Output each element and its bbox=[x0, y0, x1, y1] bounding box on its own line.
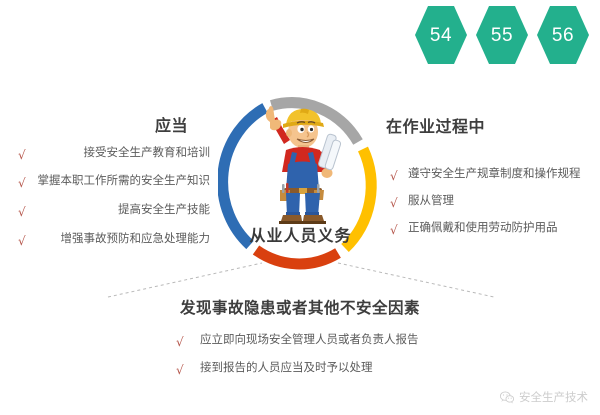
check-icon: √ bbox=[390, 197, 398, 209]
right-list-item: 服从管理 bbox=[408, 196, 454, 208]
ring-segment-red bbox=[256, 250, 338, 264]
check-icon: √ bbox=[18, 206, 26, 218]
center-label: 从业人员义务 bbox=[228, 222, 373, 246]
right-list-item: 正确佩戴和使用劳动防护用品 bbox=[408, 223, 558, 235]
section-heading-right: 在作业过程中 bbox=[386, 113, 485, 137]
check-icon: √ bbox=[18, 149, 26, 161]
section-heading-left: 应当 bbox=[155, 112, 188, 136]
wechat-icon bbox=[500, 391, 514, 404]
bottom-list-item: 应立即向现场安全管理人员或者负责人报告 bbox=[200, 335, 419, 347]
bottom-list-item: 接到报告的人员应当及时予以处理 bbox=[200, 363, 373, 375]
check-icon: √ bbox=[176, 364, 184, 376]
watermark-text: 安全生产技术 bbox=[519, 389, 588, 405]
check-icon: √ bbox=[18, 177, 26, 189]
section-heading-bottom: 发现事故隐患或者其他不安全因素 bbox=[160, 296, 440, 318]
construction-worker-illustration bbox=[246, 100, 356, 225]
check-icon: √ bbox=[390, 170, 398, 182]
check-icon: √ bbox=[176, 336, 184, 348]
check-icon: √ bbox=[390, 224, 398, 236]
right-list-item: 遵守安全生产规章制度和操作规程 bbox=[408, 169, 581, 181]
left-list-item: 增强事故预防和应急处理能力 bbox=[61, 234, 211, 246]
left-list-item: 掌握本职工作所需的安全生产知识 bbox=[38, 176, 211, 188]
infographic-canvas: 54 55 56 bbox=[0, 0, 600, 415]
watermark: 安全生产技术 bbox=[500, 389, 588, 405]
left-list-item: 提高安全生产技能 bbox=[118, 205, 210, 217]
left-list-item: 接受安全生产教育和培训 bbox=[84, 148, 211, 160]
check-icon: √ bbox=[18, 235, 26, 247]
